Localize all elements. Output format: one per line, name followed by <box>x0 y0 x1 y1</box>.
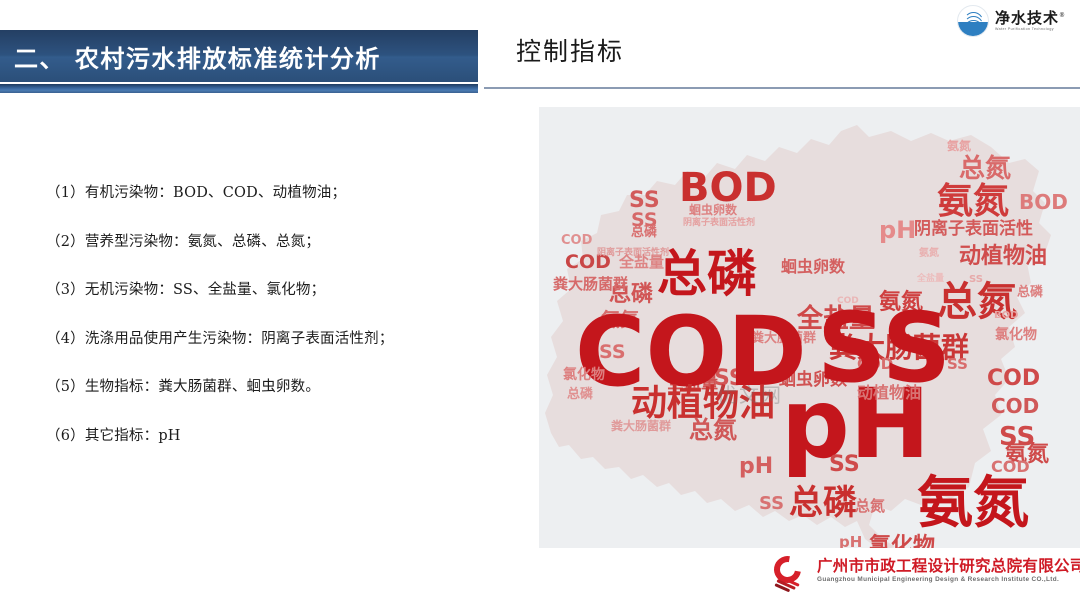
wordcloud-term: pH <box>739 457 773 478</box>
wordcloud-term: 动植物油 <box>959 247 1047 268</box>
wordcloud-term: 总氮 <box>959 157 1011 182</box>
wordcloud-term: 氯化物 <box>563 369 605 382</box>
list-item: （2）营养型污染物：氨氮、总磷、总氮； <box>46 235 526 250</box>
wordcloud-term: 氯化物 <box>995 329 1037 342</box>
registered-mark: ® <box>1059 12 1066 19</box>
wordcloud-term: 氨氮 <box>917 477 1029 530</box>
water-waves-circle-icon <box>957 5 989 37</box>
wordcloud-term: 总磷 <box>1017 287 1043 299</box>
wordcloud-term: COD <box>991 397 1039 416</box>
wordcloud-term: SS <box>759 495 784 512</box>
wordcloud-term: COD <box>561 235 592 247</box>
wordcloud-term: SS <box>829 455 860 476</box>
china-map-wordcloud-image: 氨氮总氮氨氮BODpH阴离子表面活性氨氮动植物油全盐量SS氨氮总氮总磷COD全盐… <box>539 107 1080 548</box>
wordcloud-term: COD <box>987 369 1040 390</box>
gmedri-swoosh-icon <box>774 556 810 586</box>
section-title-band: 二、 农村污水排放标准统计分析 <box>0 30 478 82</box>
wordcloud-term: pH <box>879 219 916 242</box>
footer-company-text: 广州市市政工程设计研究总院有限公司 Guangzhou Municipal En… <box>817 559 1080 584</box>
wordcloud-term: BOD <box>994 311 1018 321</box>
wordcloud-term: 粪大肠菌群 <box>553 277 628 291</box>
wordcloud-term: 总氮 <box>689 419 737 442</box>
brand-text: 净水技术® Water Purification Technology <box>995 11 1066 32</box>
list-item: （6）其它指标：pH <box>46 429 526 444</box>
wordcloud-term: 氨氮 <box>937 185 1009 219</box>
list-item: （3）无机污染物：SS、全盐量、氯化物； <box>46 283 526 298</box>
wordcloud-term: 氯化物 <box>869 537 935 548</box>
wordcloud-term: 阴离子表面活性 <box>914 221 1033 237</box>
wordcloud-term: 粪大肠菌群 <box>611 421 671 432</box>
list-item: （5）生物指标：粪大肠菌群、蛔虫卵数。 <box>46 380 526 395</box>
wordcloud-term: 阴离子表面活性剂 <box>683 219 755 228</box>
wordcloud-term: 氨氮 <box>919 249 939 259</box>
wordcloud-term: 总氮 <box>855 499 885 513</box>
wordcloud-term: BOD <box>679 169 777 207</box>
list-item: （4）洗涤用品使用产生污染物：阴离子表面活性剂； <box>46 332 526 347</box>
wordcloud-term: 总磷 <box>631 227 657 239</box>
wordcloud-term: COD <box>991 459 1030 474</box>
title-hairline <box>484 87 1080 89</box>
wordcloud-term: pH <box>839 535 862 548</box>
title-underbar <box>0 84 478 93</box>
wordcloud-term: 蛔虫卵数 <box>689 205 737 216</box>
list-item: （1）有机污染物：BOD、COD、动植物油； <box>46 186 526 201</box>
wordcloud-term: SS <box>999 425 1035 450</box>
brand-logo: 净水技术® Water Purification Technology <box>957 6 1066 36</box>
wordcloud-term: 总磷 <box>657 251 757 299</box>
watermark-text: 优文网 <box>717 379 783 408</box>
wordcloud-term: 总磷 <box>567 389 593 401</box>
wordcloud-term: 氨氮 <box>947 141 971 152</box>
company-name-en: Guangzhou Municipal Engineering Design &… <box>817 577 1080 583</box>
brand-name-en: Water Purification Technology <box>995 28 1066 32</box>
brand-name-cn: 净水技术 <box>995 9 1059 27</box>
wordcloud-term: 总磷 <box>789 487 857 519</box>
page-subtitle: 控制指标 <box>516 32 624 68</box>
wordcloud-term: 动植物油 <box>857 385 921 400</box>
page-title: 二、 农村污水排放标准统计分析 <box>0 39 381 74</box>
footer-company-logo: 广州市市政工程设计研究总院有限公司 Guangzhou Municipal En… <box>774 556 1080 586</box>
company-name-cn: 广州市市政工程设计研究总院有限公司 <box>817 559 1080 575</box>
wordcloud-term: 蛔虫卵数 <box>781 259 845 274</box>
wordcloud-term: BOD <box>1019 193 1068 212</box>
pollutant-indicator-list: （1）有机污染物：BOD、COD、动植物油； （2）营养型污染物：氨氮、总磷、总… <box>46 186 526 477</box>
wordcloud-terms-layer: 氨氮总氮氨氮BODpH阴离子表面活性氨氮动植物油全盐量SS氨氮总氮总磷COD全盐… <box>539 107 1080 548</box>
